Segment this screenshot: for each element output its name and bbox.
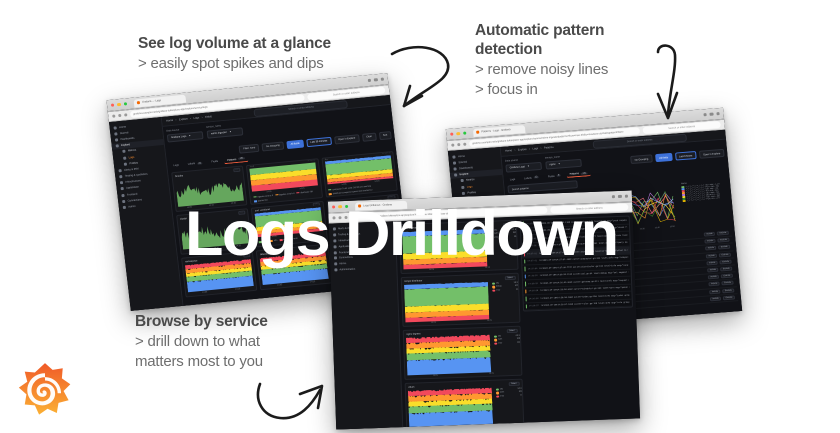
- tab-label: Fields: [548, 174, 555, 177]
- legend-label: error: [496, 289, 500, 291]
- legend-swatch: [279, 239, 282, 241]
- sidebar-item-icon: [462, 192, 465, 195]
- forward-icon: [338, 216, 341, 219]
- tab-count: 12: [533, 176, 539, 178]
- sidebar-item-label: Explore: [121, 143, 130, 147]
- chrome-controls: [703, 112, 719, 117]
- log-timestamp: 14:27:03: [526, 222, 536, 225]
- legend-swatch: [496, 395, 499, 398]
- row-actions[interactable]: IncludeExclude: [707, 267, 732, 273]
- row-action-include[interactable]: Include: [709, 282, 720, 287]
- tab-count: 131: [581, 172, 588, 175]
- service-panel-legend[interactable]: info4.6 Kwarn918error122: [494, 332, 521, 372]
- panel: detected_level⋯14:0514:15: [256, 243, 333, 290]
- log-viewer[interactable]: 14:27:03ts=2024-09-18T14:27:03.118Z call…: [520, 212, 640, 429]
- grafana-logo-icon: [18, 362, 72, 420]
- service-panel[interactable]: tempo-distributorSelectinfo1.8 Kdebug512…: [401, 273, 521, 327]
- favicon-icon: [137, 101, 140, 104]
- panel: namespace⋯14:0514:15: [181, 250, 258, 297]
- log-timestamp: 14:26:59: [528, 282, 538, 285]
- legend-label: ingester-zone-a-0: [257, 195, 273, 198]
- tab-label: Patterns: [570, 172, 580, 176]
- legend-item: error86: [490, 235, 516, 238]
- row-actions[interactable]: IncludeExclude: [705, 238, 730, 244]
- row-action-exclude[interactable]: Exclude: [720, 267, 732, 272]
- callout-pattern-detection: Automatic pattern detection > remove noi…: [475, 22, 608, 99]
- minimize-icon[interactable]: [338, 205, 342, 209]
- legend-label: warn: [498, 339, 502, 341]
- log-timestamp: 14:27:00: [528, 267, 538, 270]
- service-panel[interactable]: mimir-ingesterSelectinfo2.1 Kwarn340erro…: [399, 220, 519, 274]
- curved-arrow-down-left-icon: [386, 42, 458, 122]
- breadcrumb-item[interactable]: Home: [505, 149, 512, 153]
- minimize-icon[interactable]: [457, 132, 461, 136]
- browser-tab-label: Grafana — Logs: [142, 99, 161, 104]
- row-actions[interactable]: IncludeExclude: [706, 252, 731, 258]
- row-action-include[interactable]: Include: [710, 296, 721, 301]
- row-action-include[interactable]: Include: [707, 268, 718, 273]
- sidebar-item-label: Connections: [127, 198, 142, 202]
- tab-label: Patterns: [227, 158, 237, 162]
- favicon-icon: [358, 204, 361, 207]
- legend-swatch: [328, 189, 331, 191]
- row-actions[interactable]: IncludeExclude: [708, 274, 733, 280]
- sidebar-item-label: Starred: [120, 131, 129, 135]
- legend-swatch: [492, 282, 495, 285]
- row-actions[interactable]: IncludeExclude: [709, 288, 734, 294]
- tab-patterns[interactable]: Patterns131: [566, 170, 590, 178]
- action-button-open-in-explore[interactable]: Open in Explore: [334, 134, 360, 144]
- service-panel-plot: [406, 335, 491, 376]
- panel-body: info4.6 Kwarn918error122: [404, 332, 521, 375]
- legend-swatch: [492, 289, 495, 292]
- nav-buttons[interactable]: [112, 113, 127, 117]
- extensions-icon[interactable]: [703, 113, 707, 117]
- tab-label: Labels: [524, 176, 532, 180]
- log-timestamp: 14:27:02: [527, 244, 537, 247]
- log-level-indicator: [526, 304, 527, 309]
- breadcrumb-item[interactable]: Patterns: [544, 146, 554, 150]
- legend-item: debug: [259, 241, 269, 244]
- sidebar-item-label: Home: [119, 125, 126, 129]
- x-tick-label: 14:05: [429, 269, 434, 271]
- filter-field-value: Grafana Logs: [171, 135, 186, 139]
- sidebar-item-icon: [334, 262, 337, 265]
- x-tick-label: 10:40: [655, 227, 660, 229]
- log-timestamp: 14:26:58: [528, 289, 538, 292]
- log-timestamp: 14:27:01: [527, 259, 537, 262]
- row-action-exclude[interactable]: Exclude: [722, 281, 734, 286]
- tab-patterns[interactable]: Patterns131: [224, 155, 249, 163]
- row-action-include[interactable]: Include: [707, 260, 718, 265]
- x-tick-label: 14:25: [487, 320, 492, 322]
- extensions-icon[interactable]: [368, 79, 372, 83]
- filter-field: Data sourceGrafana Logs▾: [505, 157, 542, 172]
- x-tick-label: 14:15: [231, 202, 236, 204]
- x-tick-label: 14:05: [202, 291, 207, 293]
- legend-label: debug: [263, 241, 269, 244]
- legend-label: info: [274, 240, 277, 242]
- nav-buttons[interactable]: [332, 216, 347, 220]
- log-level-indicator: [524, 266, 525, 271]
- legend-label: debug: [496, 286, 501, 288]
- forward-icon: [118, 114, 121, 117]
- tab-fields[interactable]: Fields9: [545, 173, 564, 179]
- menu-icon[interactable]: [716, 112, 720, 116]
- legend-swatch: [683, 200, 686, 202]
- sidebar-item-icon: [113, 126, 116, 129]
- action-button-last-6-hours[interactable]: Last 6 hours: [675, 151, 697, 161]
- x-tick-label: 10:50: [670, 226, 675, 228]
- chevron-down-icon: ▾: [558, 162, 560, 165]
- legend-value: 86: [514, 236, 516, 238]
- tab-label: Logs: [510, 177, 516, 180]
- tab-count: 21: [197, 162, 203, 165]
- filter-field-value: nginx: [549, 163, 555, 166]
- log-timestamp: 14:27:03: [526, 229, 536, 232]
- legend-label: querier-5cf: [258, 200, 268, 203]
- x-tick-label: 14:15: [310, 281, 315, 283]
- sidebar-item-label: Starred: [458, 160, 467, 164]
- panel-title: namespace: [185, 259, 198, 263]
- sidebar-item-label: Logs: [467, 185, 473, 188]
- log-level-indicator: [525, 274, 526, 279]
- forward-icon: [457, 143, 460, 146]
- browser-tab-label: Patterns · Logs · Grafana: [481, 128, 510, 133]
- sidebar-item-label: Alerts & IRM: [338, 227, 352, 231]
- legend-swatch: [494, 335, 497, 338]
- panel-body: info3.2 Kwarn601error77: [406, 385, 523, 428]
- log-level-indicator: [525, 289, 526, 294]
- row-action-include[interactable]: Include: [709, 289, 720, 294]
- panel: tier⋯14:0514:15compactor-7s-k4 used 210 …: [321, 150, 398, 197]
- sidebar-item-icon: [333, 228, 336, 231]
- menu-icon[interactable]: [380, 77, 384, 81]
- log-timestamp: 14:26:59: [528, 274, 538, 277]
- action-button-no-grouping[interactable]: No Grouping: [630, 154, 652, 164]
- filter-field-select[interactable]: Grafana Logs▾: [505, 161, 542, 172]
- service-panel[interactable]: ciliumSelectinfo3.2 Kwarn601error7714:05…: [405, 379, 525, 430]
- panel-title: detected_level: [260, 251, 276, 255]
- menu-icon[interactable]: [624, 194, 628, 198]
- x-tick-label: 14:05: [192, 249, 197, 251]
- x-tick-label: 14:10: [209, 204, 214, 206]
- legend-swatch: [492, 286, 495, 289]
- action-button-sort[interactable]: Sort: [378, 131, 391, 140]
- filter-field: service_namemimir-ingester▾: [206, 122, 243, 138]
- service-panel[interactable]: nginx-ingressSelectinfo4.6 Kwarn918error…: [403, 326, 523, 380]
- legend-value: 122: [517, 341, 520, 343]
- profile-icon[interactable]: [618, 195, 622, 199]
- sidebar-item-icon: [334, 245, 337, 248]
- back-icon: [451, 144, 454, 147]
- x-tick-label: 14:05: [277, 284, 282, 286]
- panel: $nodes⋯14:0514:1014:15: [171, 165, 248, 212]
- row-action-include[interactable]: Include: [706, 253, 717, 258]
- profile-icon[interactable]: [710, 112, 714, 116]
- sidebar-item-label: Infrastructure: [338, 239, 353, 243]
- log-timestamp: 14:27:01: [527, 252, 537, 255]
- service-panel-legend[interactable]: info2.1 Kwarn340error86: [490, 226, 517, 266]
- nav-buttons[interactable]: [451, 143, 466, 147]
- service-panel-legend[interactable]: info1.8 Kdebug512error44: [492, 279, 519, 319]
- tab-label: Logs: [173, 164, 179, 167]
- grafana-sidebar[interactable]: Alerts & IRMTesting & syntheticsInfrastr…: [329, 221, 404, 429]
- filter-field-select[interactable]: nginx▾: [545, 158, 582, 169]
- x-tick-label: 10:30: [640, 228, 645, 230]
- action-button-clear[interactable]: Clear: [362, 132, 377, 141]
- tab-labels[interactable]: Labels21: [184, 160, 205, 167]
- breadcrumb-separator: ›: [201, 116, 202, 119]
- legend-swatch: [490, 229, 493, 232]
- legend-label: distributor-78f: [300, 191, 312, 194]
- panel: pod_workload⋯14:0514:15debuginfowarnerro…: [251, 200, 328, 247]
- panel-title: pod: [250, 165, 254, 167]
- legend-swatch: [490, 233, 493, 236]
- tab-label: Fields: [211, 160, 218, 164]
- row-action-include[interactable]: Include: [705, 246, 716, 251]
- row-action-exclude[interactable]: Exclude: [721, 274, 733, 279]
- tab-logs[interactable]: Logs: [170, 162, 182, 168]
- close-icon[interactable]: [450, 132, 454, 136]
- legend-swatch: [254, 200, 257, 202]
- breadcrumb-item[interactable]: Explore: [518, 148, 527, 152]
- sidebar-item-icon: [116, 144, 119, 147]
- sidebar-item-icon: [122, 200, 125, 203]
- panel-menu-icon[interactable]: ⋯: [318, 246, 326, 251]
- reload-icon: [124, 113, 127, 116]
- sidebar-item-icon: [118, 169, 121, 172]
- sidebar-item-label: Home: [458, 154, 465, 158]
- service-panel-legend[interactable]: info3.2 Kwarn601error77: [496, 385, 523, 425]
- breadcrumb-item[interactable]: Explore: [179, 118, 188, 122]
- row-action-exclude[interactable]: Exclude: [722, 288, 734, 293]
- chart-legend[interactable]: Name<_> <_> <_> <_> <_> "GET /api/... 1.…: [681, 180, 731, 228]
- panel: cluster⋯14:0514:1014:15: [176, 208, 253, 255]
- row-action-include[interactable]: Include: [708, 275, 719, 280]
- action-button-filter-none[interactable]: Filter: none: [239, 143, 260, 153]
- tab-count: 9: [556, 174, 560, 176]
- profile-icon[interactable]: [374, 78, 378, 82]
- legend-value: 601: [519, 391, 522, 393]
- legend-swatch: [496, 392, 499, 395]
- row-action-exclude[interactable]: Exclude: [723, 295, 735, 300]
- sidebar-item-label: Application: [339, 245, 351, 248]
- log-level-indicator: [523, 236, 524, 241]
- maximize-icon[interactable]: [463, 131, 467, 135]
- breadcrumb[interactable]: Home›Explore›Logs›Fields: [166, 115, 212, 122]
- chevron-down-icon: ▾: [230, 130, 232, 133]
- close-icon[interactable]: [111, 103, 115, 107]
- legend-value: 512: [515, 285, 518, 287]
- tab-count: 131: [238, 157, 245, 160]
- browser-window-service-index[interactable]: Logs Drilldown · Grafana grafana.example…: [328, 191, 640, 430]
- sidebar-item-icon: [461, 185, 464, 188]
- sidebar-item-icon: [123, 206, 126, 209]
- breadcrumb-separator: ›: [175, 119, 176, 122]
- legend-label: error: [498, 342, 502, 344]
- breadcrumb-item[interactable]: Fields: [205, 115, 212, 119]
- breadcrumb-separator: ›: [190, 117, 191, 120]
- legend-label: ingester-zone-b-0: [279, 193, 295, 196]
- sidebar-item-icon: [334, 257, 337, 260]
- sidebar-item-label: Administration: [339, 268, 355, 272]
- tab-fields[interactable]: Fields: [208, 159, 221, 165]
- tab-label: Labels: [188, 162, 196, 166]
- sidebar-item-icon: [119, 175, 122, 178]
- row-actions[interactable]: IncludeExclude: [705, 245, 730, 251]
- legend-swatch: [259, 241, 262, 243]
- log-level-indicator: [526, 296, 527, 301]
- x-tick-label: 14:05: [433, 375, 438, 377]
- minimize-icon[interactable]: [117, 103, 121, 107]
- x-tick-label: 14:15: [236, 244, 241, 246]
- x-tick-label: 14:15: [235, 288, 240, 290]
- service-panel-column: mimir-ingesterSelectinfo2.1 Kwarn340erro…: [396, 217, 528, 430]
- legend-swatch: [329, 193, 332, 195]
- reload-icon: [463, 143, 466, 146]
- sidebar-item-icon: [122, 150, 125, 153]
- breadcrumb-item[interactable]: Logs: [193, 116, 199, 120]
- x-tick-label: 14:10: [214, 247, 219, 249]
- x-tick-label: 14:05: [187, 206, 192, 208]
- chrome-controls: [368, 77, 384, 82]
- log-lines-table[interactable]: 14:27:03ts=2024-09-18T14:27:03.118Z call…: [520, 216, 633, 312]
- maximize-icon[interactable]: [345, 205, 349, 209]
- legend-item: error: [290, 238, 298, 241]
- log-level-indicator: [524, 259, 525, 264]
- sidebar-item-icon: [333, 234, 336, 237]
- legend-item: querier-5cf: [254, 199, 268, 203]
- row-action-include[interactable]: Include: [705, 239, 716, 244]
- grafana-app: Alerts & IRMTesting & syntheticsInfrastr…: [329, 212, 640, 429]
- breadcrumb-separator: ›: [529, 148, 530, 151]
- callout-subtext: > easily spot spikes and dips: [138, 54, 331, 74]
- poster-canvas: Grafana — Logs grafana.example.net/a/gra…: [0, 0, 840, 433]
- action-button-no-grouping[interactable]: No Grouping: [262, 141, 284, 151]
- row-actions[interactable]: IncludeExclude: [707, 259, 732, 265]
- x-tick-label: 14:25: [485, 267, 490, 269]
- row-action-exclude[interactable]: Exclude: [718, 245, 730, 250]
- legend-swatch: [290, 238, 293, 240]
- sidebar-item-icon: [461, 179, 464, 182]
- callout-headline: See log volume at a glance: [138, 35, 331, 54]
- service-panel-plot: [404, 282, 489, 323]
- panel-body: info1.8 Kdebug512error44: [402, 279, 519, 322]
- legend-label: error: [494, 236, 498, 238]
- sidebar-item-label: Testing & synthetics: [338, 233, 360, 237]
- filter-field-select[interactable]: mimir-ingester▾: [207, 127, 244, 138]
- omnibox-hint: Search or enter address: [550, 204, 628, 213]
- legend-label: warn: [494, 233, 498, 235]
- filter-field-select[interactable]: Grafana Logs▾: [167, 131, 204, 142]
- tab-logs[interactable]: Logs: [507, 176, 519, 182]
- breadcrumb[interactable]: Home›Explore›Logs›Patterns: [505, 146, 554, 153]
- back-icon: [112, 114, 115, 117]
- filter-field: service_namenginx▾: [545, 154, 582, 169]
- legend-swatch: [490, 236, 493, 239]
- filter-field-value: Grafana Logs: [510, 165, 525, 169]
- action-button-all-fields[interactable]: All fields: [655, 153, 673, 162]
- sidebar-item-icon: [124, 162, 127, 165]
- service-panel-plot: [408, 388, 493, 429]
- legend-item: ingester-zone-b-0: [275, 192, 295, 196]
- legend-swatch: [496, 388, 499, 391]
- sidebar-item-icon: [334, 268, 337, 271]
- sidebar-item-icon: [453, 167, 456, 170]
- breadcrumb-item[interactable]: Logs: [532, 147, 538, 150]
- callout-subtext: > remove noisy lines > focus in: [475, 60, 608, 100]
- panel-menu-icon[interactable]: ⋯: [233, 168, 241, 173]
- log-message: ts=2024-09-18T14:26:57.533Z caller=ruler…: [541, 301, 630, 307]
- row-actions[interactable]: IncludeExclude: [704, 231, 729, 237]
- service-panel-plot: [402, 229, 487, 270]
- row-action-include[interactable]: Include: [704, 232, 715, 237]
- sidebar-item-administration[interactable]: Administration: [330, 265, 396, 273]
- service-index-main: mimir-ingesterSelectinfo2.1 Kwarn340erro…: [396, 212, 640, 429]
- row-actions[interactable]: IncludeExclude: [709, 281, 734, 287]
- log-timestamp: 14:26:58: [529, 297, 539, 300]
- action-button-open-in-explore[interactable]: Open in Explore: [699, 149, 725, 159]
- legend-value: 2.1 K: [512, 229, 516, 231]
- panel-menu-icon[interactable]: ⋯: [243, 253, 251, 258]
- back-icon: [332, 216, 335, 219]
- legend-swatch: [494, 342, 497, 345]
- legend-label: info: [496, 282, 499, 284]
- row-action-exclude[interactable]: Exclude: [717, 231, 729, 236]
- sidebar-item-label: Metrics: [466, 178, 475, 182]
- hooked-arrow-down-icon: [648, 42, 692, 126]
- panel: pod⋯14:0514:15ingester-zone-a-0ingester-…: [246, 158, 323, 205]
- sidebar-item-label: Frontend: [339, 250, 349, 253]
- browser-tab-label: Logs Drilldown · Grafana: [363, 203, 392, 207]
- action-button-all-fields[interactable]: All fields: [286, 139, 304, 149]
- maximize-icon[interactable]: [124, 102, 128, 106]
- action-button-last-30-minutes[interactable]: Last 30 minutes: [306, 136, 332, 146]
- breadcrumb-item[interactable]: Home: [166, 119, 173, 123]
- sidebar-item-icon: [333, 239, 336, 242]
- close-icon[interactable]: [332, 205, 336, 209]
- breadcrumb-separator: ›: [540, 147, 541, 150]
- panel-title: cluster: [180, 217, 187, 221]
- favicon-icon: [476, 131, 479, 134]
- panel-menu-icon[interactable]: ⋯: [238, 210, 246, 215]
- extensions-icon[interactable]: [612, 195, 616, 199]
- callout-headline: Browse by service: [135, 313, 268, 332]
- sidebar-item-label: Logs: [128, 155, 134, 159]
- sidebar-item-label: Dashboards: [120, 137, 134, 141]
- legend-swatch: [275, 194, 278, 196]
- filter-field-value: mimir-ingester: [211, 131, 227, 135]
- tab-labels[interactable]: Labels12: [521, 174, 542, 181]
- browser-tab[interactable]: Logs Drilldown · Grafana: [355, 200, 407, 210]
- legend-item: error77: [496, 394, 522, 397]
- row-actions[interactable]: IncludeExclude: [710, 295, 735, 301]
- sidebar-item-icon: [334, 251, 337, 254]
- legend-item: error44: [492, 288, 518, 291]
- row-action-exclude[interactable]: Exclude: [718, 238, 730, 243]
- row-action-exclude[interactable]: Exclude: [719, 252, 731, 257]
- sidebar-item-icon: [454, 174, 457, 177]
- sidebar-item-label: Frontend: [127, 192, 138, 196]
- sidebar-item-label: Explore: [460, 173, 469, 177]
- row-action-exclude[interactable]: Exclude: [720, 259, 732, 264]
- sidebar-item-label: Profiles: [129, 161, 138, 165]
- sidebar-item-label: Connections: [339, 256, 353, 260]
- chevron-down-icon: ▾: [189, 134, 191, 137]
- legend-label: info: [494, 229, 497, 231]
- filter-field: Data sourceGrafana Logs▾: [166, 126, 203, 142]
